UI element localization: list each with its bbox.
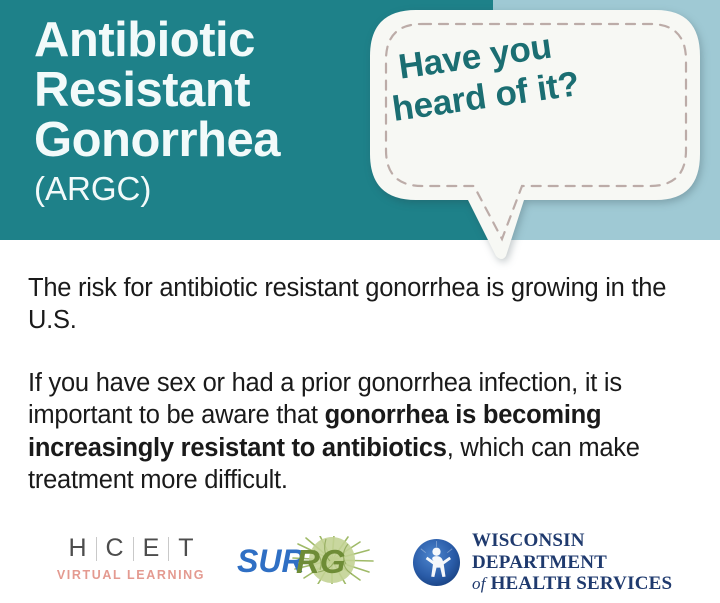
surrg-logo: SUR RG — [236, 536, 386, 584]
dhs-seal-icon — [412, 538, 461, 587]
svg-text:SUR: SUR — [237, 543, 305, 579]
speech-bubble: Have you heard of it? — [356, 4, 706, 262]
paragraph-2: If you have sex or had a prior gonorrhea… — [28, 367, 692, 497]
body-copy: The risk for antibiotic resistant gonorr… — [28, 272, 692, 496]
paragraph-1: The risk for antibiotic resistant gonorr… — [28, 272, 692, 337]
infographic-poster: Antibiotic Resistant Gonorrhea (ARGC) Ha… — [0, 0, 720, 603]
dhs-wordmark: WISCONSIN DEPARTMENT of HEALTH SERVICES — [472, 530, 720, 595]
surrg-wordmark: SUR RG — [237, 543, 346, 580]
dhs-health-services: HEALTH SERVICES — [491, 573, 673, 594]
hcet-logo: H C E T VIRTUAL LEARNING — [46, 536, 216, 582]
hcet-letter-c: C — [97, 536, 133, 561]
dhs-line-2: of HEALTH SERVICES — [472, 573, 720, 595]
dhs-line-1: WISCONSIN DEPARTMENT — [472, 530, 720, 573]
dhs-of-word: of — [472, 574, 486, 593]
header-banner: Antibiotic Resistant Gonorrhea (ARGC) Ha… — [0, 0, 720, 240]
wisconsin-dhs-logo: WISCONSIN DEPARTMENT of HEALTH SERVICES — [412, 530, 720, 595]
hcet-tagline: VIRTUAL LEARNING — [46, 568, 216, 582]
hcet-letters: H C E T — [46, 536, 216, 561]
hcet-letter-e: E — [134, 536, 169, 561]
logo-row: H C E T VIRTUAL LEARNING — [0, 520, 720, 603]
hcet-letter-t: T — [169, 536, 202, 561]
hcet-letter-h: H — [59, 536, 95, 561]
svg-text:RG: RG — [296, 543, 346, 580]
